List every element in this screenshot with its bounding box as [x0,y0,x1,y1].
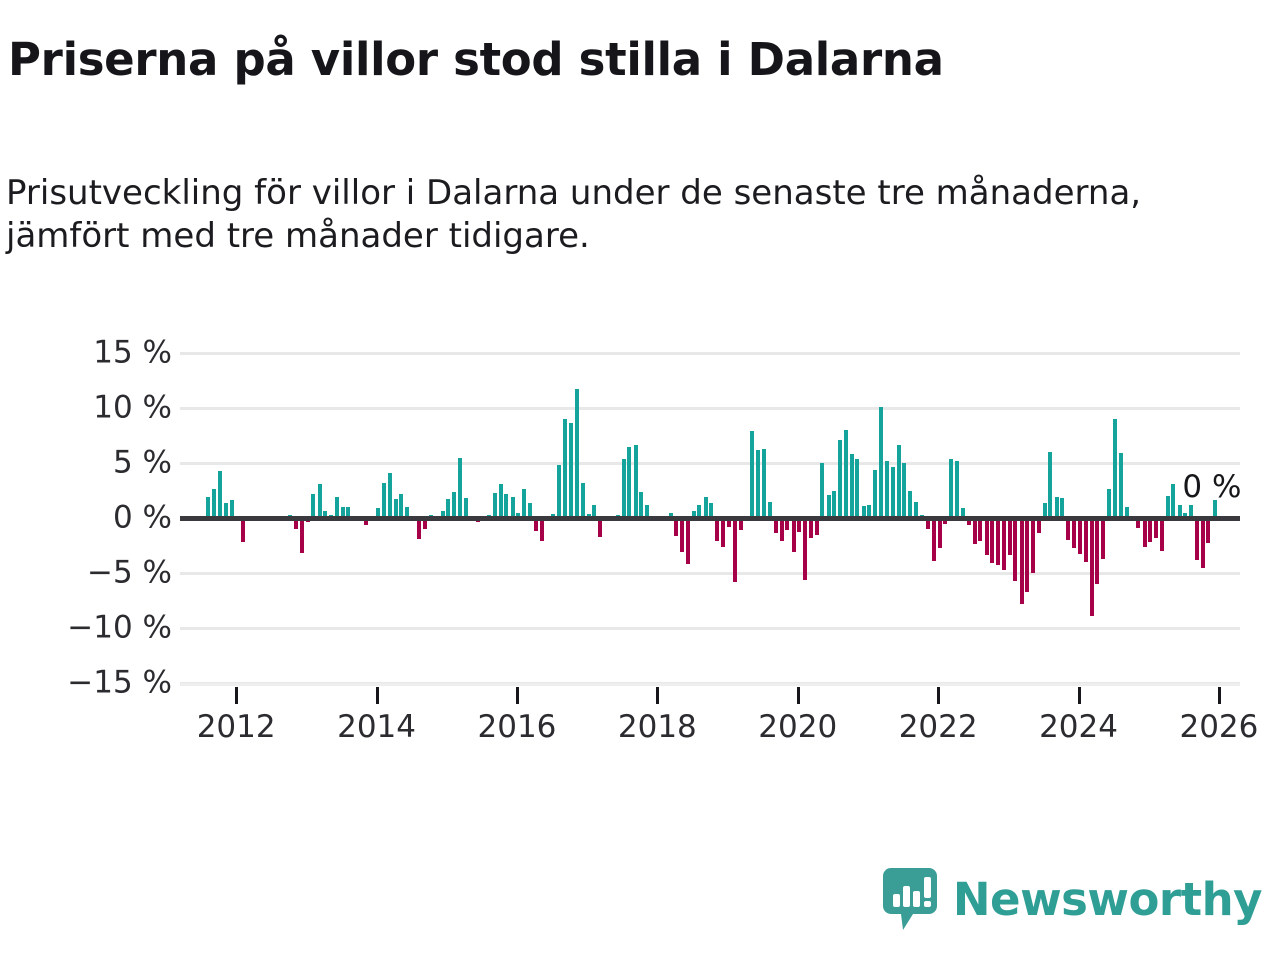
x-axis-tick [235,687,238,704]
bar [820,463,824,518]
bar [996,518,1000,565]
x-axis-tick [376,687,379,704]
y-axis-tick-label: −15 % [42,668,172,699]
bar [206,497,210,518]
bar [1143,518,1147,547]
bar [1008,518,1012,555]
bar [885,461,889,518]
x-axis-tick-label: 2024 [1039,709,1118,745]
x-axis-tick [1078,687,1081,704]
bar [1201,518,1205,568]
chart-page: Priserna på villor stod stilla i Dalarna… [0,0,1280,960]
bar [686,518,690,564]
bar [1060,498,1064,518]
bar [990,518,994,563]
bar [733,518,737,582]
bar [1084,518,1088,562]
bar [212,489,216,518]
bar [949,459,953,518]
bar [581,483,585,518]
bar [335,497,339,518]
bar [715,518,719,541]
bar [855,459,859,518]
bar [721,518,725,547]
bar [1002,518,1006,570]
bar [850,454,854,518]
bar [973,518,977,544]
bar [634,445,638,518]
bar [1078,518,1082,554]
bar [1048,452,1052,518]
x-axis-tick-label: 2018 [618,709,697,745]
bar [627,447,631,519]
bar [832,491,836,519]
bar [622,459,626,518]
x-axis-tick-label: 2026 [1179,709,1258,745]
bar [1166,496,1170,518]
plot-area: 0 % [180,353,1240,683]
x-axis-tick-label: 2020 [758,709,837,745]
bar [1031,518,1035,573]
bar [452,492,456,518]
bar [879,407,883,518]
bar [897,445,901,518]
x-axis-tick-label: 2014 [337,709,416,745]
bar [241,518,245,542]
bar [569,423,573,518]
bar [399,494,403,518]
bar [762,449,766,518]
bar [780,518,784,541]
bar [1055,497,1059,518]
bar [575,389,579,518]
bar [838,440,842,518]
x-axis-tick [516,687,519,704]
bar [493,493,497,518]
bar-chart: 0 % 15 %10 %5 %0 %−5 %−10 %−15 % 2012201… [0,330,1280,750]
bar [1171,484,1175,518]
bar [1095,518,1099,584]
y-axis-tick-label: −5 % [42,558,172,589]
bar [844,430,848,518]
bar [639,492,643,518]
bar [1013,518,1017,581]
page-title: Priserna på villor stod stilla i Dalarna [8,36,1248,83]
newsworthy-logo[interactable]: Newsworthy [883,868,1262,930]
bar [464,498,468,518]
bar [1066,518,1070,540]
bar [1148,518,1152,542]
x-axis-tick [797,687,800,704]
bar [908,491,912,519]
bar [827,495,831,518]
bar [1072,518,1076,548]
bar [522,489,526,518]
bar [540,518,544,541]
bar [318,484,322,518]
zero-line [180,516,1240,521]
bar [499,484,503,518]
bar [756,450,760,518]
bar [417,518,421,539]
brand-name: Newsworthy [953,877,1262,922]
bar [873,470,877,518]
x-axis-line [180,683,1240,686]
bar [1119,453,1123,518]
bar [1107,489,1111,518]
bar [511,497,515,518]
bar [803,518,807,580]
bar [388,473,392,518]
bar [563,419,567,518]
bar [932,518,936,561]
bar [792,518,796,552]
x-axis-tick-label: 2022 [899,709,978,745]
bar [1025,518,1029,592]
bar [1020,518,1024,604]
bar [1160,518,1164,551]
chart-subtitle: Prisutveckling för villor i Dalarna unde… [6,172,1221,258]
bar [1090,518,1094,616]
bar [382,483,386,518]
y-axis-tick-label: 5 % [42,448,172,479]
bar [1195,518,1199,560]
bar [680,518,684,552]
bar [311,494,315,518]
bar [891,467,895,518]
value-annotation: 0 % [1182,469,1241,505]
x-axis-tick [656,687,659,704]
bar-chart-speech-bubble-icon [883,868,937,930]
bar [978,518,982,541]
y-axis-tick-label: −10 % [42,613,172,644]
bar [750,431,754,518]
bar [218,471,222,518]
bar [557,465,561,518]
bar [902,463,906,518]
x-axis: 20122014201620182020202220242026 [180,683,1240,743]
x-axis-tick [937,687,940,704]
y-axis-tick-label: 10 % [42,393,172,424]
bar [458,458,462,519]
bar [985,518,989,555]
bar [300,518,304,553]
bar [955,461,959,518]
bar [938,518,942,548]
y-axis-tick-label: 15 % [42,338,172,369]
bar [1101,518,1105,559]
x-axis-tick-label: 2012 [197,709,276,745]
y-axis-tick-label: 0 % [42,503,172,534]
bar [504,494,508,518]
x-axis-tick-label: 2016 [478,709,557,745]
bar [1206,518,1210,543]
bar [704,497,708,518]
x-axis-tick [1218,687,1221,704]
bar [1113,419,1117,518]
